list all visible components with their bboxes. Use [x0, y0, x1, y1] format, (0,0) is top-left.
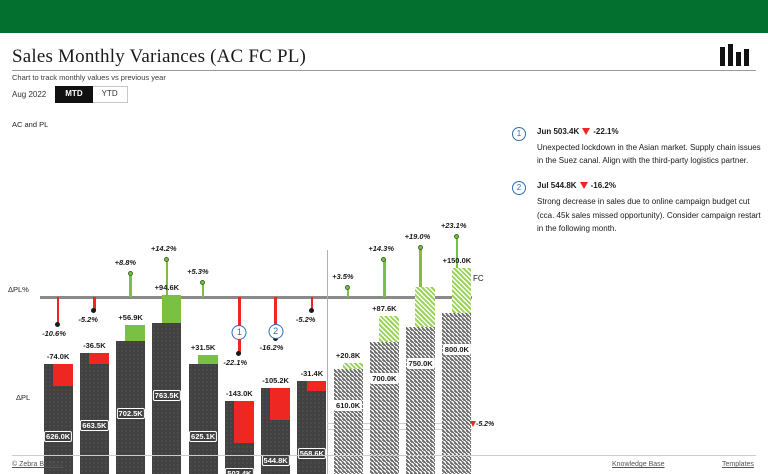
variance-block-nov — [415, 287, 435, 328]
comment-badge-1[interactable]: 1 — [512, 127, 526, 141]
bar-column-apr[interactable]: +94.6K763.5K — [152, 265, 181, 474]
variance-block-aug — [307, 381, 327, 390]
variance-block-jun — [234, 401, 254, 443]
variance-block-may — [198, 355, 218, 364]
dashboard-page: Sales Monthly Variances (AC FC PL) Chart… — [0, 0, 768, 474]
bar-column-oct[interactable]: +87.6K700.0K — [370, 265, 399, 474]
comment-header: Jun 503.4K-22.1% — [537, 127, 762, 136]
variance-block-feb — [89, 353, 109, 364]
variance-pct-label-dec: +23.1% — [441, 221, 467, 230]
comment-month-value: Jul 544.8K — [537, 181, 577, 190]
variance-abs-label-may: +31.5K — [191, 343, 215, 352]
page-title: Sales Monthly Variances (AC FC PL) — [12, 46, 306, 68]
variance-dot-oct — [381, 257, 386, 262]
comment-pct: -16.2% — [591, 181, 616, 190]
comment-month-value: Jun 503.4K — [537, 127, 579, 136]
down-triangle-icon — [582, 128, 590, 135]
footer-knowledge-base-link[interactable]: Knowledge Base — [612, 461, 665, 468]
value-label-sep: 610.0K — [334, 400, 362, 411]
bar-plot: -74.0K626.0K-36.5K663.5K+56.9K702.5K+94.… — [40, 265, 475, 474]
variance-pct-label-nov: +19.0% — [405, 232, 431, 241]
comment-pct: -22.1% — [593, 127, 618, 136]
period-toggle-mtd[interactable]: MTD — [55, 86, 92, 103]
value-label-aug: 568.6K — [298, 448, 326, 459]
variance-abs-label-jul: -105.2K — [262, 376, 289, 385]
bar-column-jun[interactable]: -143.0K503.4K1 — [225, 265, 254, 474]
bar-column-nov[interactable]: 750.0K — [406, 265, 435, 474]
variance-dot-dec — [454, 234, 459, 239]
chart-marker-2[interactable]: 2 — [268, 324, 283, 339]
variance-abs-label-aug: -31.4K — [301, 369, 324, 378]
footer-copyright: © Zebra BI 2022 — [12, 461, 63, 468]
value-label-may: 625.1K — [189, 431, 217, 442]
value-label-feb: 663.5K — [80, 420, 108, 431]
variance-abs-label-dec: +150.0K — [443, 256, 472, 265]
variance-abs-label-oct: +87.6K — [372, 304, 396, 313]
variance-abs-label-jan: -74.0K — [47, 352, 70, 361]
period-toggle-group[interactable]: MTD YTD — [55, 86, 127, 103]
value-label-jun: 503.4K — [225, 468, 253, 474]
value-label-nov: 750.0K — [407, 358, 435, 369]
forecast-bar-dec — [442, 313, 471, 474]
variance-dot-apr — [164, 257, 169, 262]
bar-column-may[interactable]: +31.5K625.1K — [189, 265, 218, 474]
variance-block-sep — [343, 363, 363, 369]
value-label-jul: 544.8K — [262, 455, 290, 466]
period-label: Aug 2022 — [12, 90, 46, 99]
variance-pct-label-oct: +14.3% — [368, 244, 394, 253]
period-toggle-ytd[interactable]: YTD — [93, 86, 128, 103]
value-label-apr: 763.5K — [153, 390, 181, 401]
bar-column-aug[interactable]: -31.4K568.6K — [297, 265, 326, 474]
forecast-tag: FC — [473, 274, 484, 283]
variance-block-jul — [270, 388, 290, 419]
bar-column-jul[interactable]: -105.2K544.8K2 — [261, 265, 290, 474]
variance-block-dec — [452, 268, 472, 313]
bar-column-dec[interactable]: +150.0K800.0K — [442, 265, 471, 474]
value-label-oct: 700.0K — [370, 373, 398, 384]
value-label-dec: 800.0K — [443, 344, 471, 355]
bar-column-sep[interactable]: +20.8K610.0K — [334, 265, 363, 474]
value-label-jan: 626.0K — [44, 431, 72, 442]
forecast-bar-sep — [334, 369, 363, 474]
footer-templates-link[interactable]: Templates — [722, 461, 754, 468]
variance-abs-label-jun: -143.0K — [226, 389, 253, 398]
comment-header: Jul 544.8K-16.2% — [537, 181, 762, 190]
variance-pct-label-apr: +14.2% — [151, 244, 177, 253]
comment-panel: 1Jun 503.4K-22.1%Unexpected lockdown in … — [512, 127, 762, 249]
variance-block-apr — [162, 295, 182, 323]
zebra-bi-logo-icon — [720, 40, 754, 66]
variance-chart: ΔPL% ΔPL AC -10.6%-5.2%+8.8%+14.2%+5.3%-… — [0, 110, 500, 450]
bar-column-jan[interactable]: -74.0K626.0K — [44, 265, 73, 474]
footer-divider — [12, 455, 756, 456]
variance-block-mar — [125, 325, 145, 342]
comment-body: Unexpected lockdown in the Asian market.… — [537, 141, 762, 167]
variance-block-jan — [53, 364, 73, 386]
down-triangle-icon — [580, 182, 588, 189]
period-selector: Aug 2022 MTD YTD — [12, 86, 128, 103]
variance-block-oct — [379, 316, 399, 342]
comment-body: Strong decrease in sales due to online c… — [537, 195, 762, 235]
actual-bar-aug — [297, 381, 326, 474]
page-subtitle: Chart to track monthly values vs previou… — [12, 73, 166, 82]
bar-column-mar[interactable]: +56.9K702.5K — [116, 265, 145, 474]
title-divider — [12, 70, 756, 71]
brand-band — [0, 0, 768, 33]
chart-marker-1[interactable]: 1 — [232, 325, 247, 340]
variance-abs-label-mar: +56.9K — [118, 313, 142, 322]
variance-dot-nov — [418, 245, 423, 250]
comment-item: 1Jun 503.4K-22.1%Unexpected lockdown in … — [512, 127, 762, 167]
variance-abs-label-sep: +20.8K — [336, 351, 360, 360]
variance-abs-label-feb: -36.5K — [83, 341, 106, 350]
reference-flag-label: -5.2% — [476, 421, 494, 428]
forecast-bar-nov — [406, 327, 435, 474]
comment-item: 2Jul 544.8K-16.2%Strong decrease in sale… — [512, 181, 762, 235]
bar-column-feb[interactable]: -36.5K663.5K — [80, 265, 109, 474]
actual-bar-may — [189, 364, 218, 474]
comment-badge-2[interactable]: 2 — [512, 181, 526, 195]
value-label-mar: 702.5K — [117, 408, 145, 419]
variance-abs-label-apr: +94.6K — [155, 283, 179, 292]
